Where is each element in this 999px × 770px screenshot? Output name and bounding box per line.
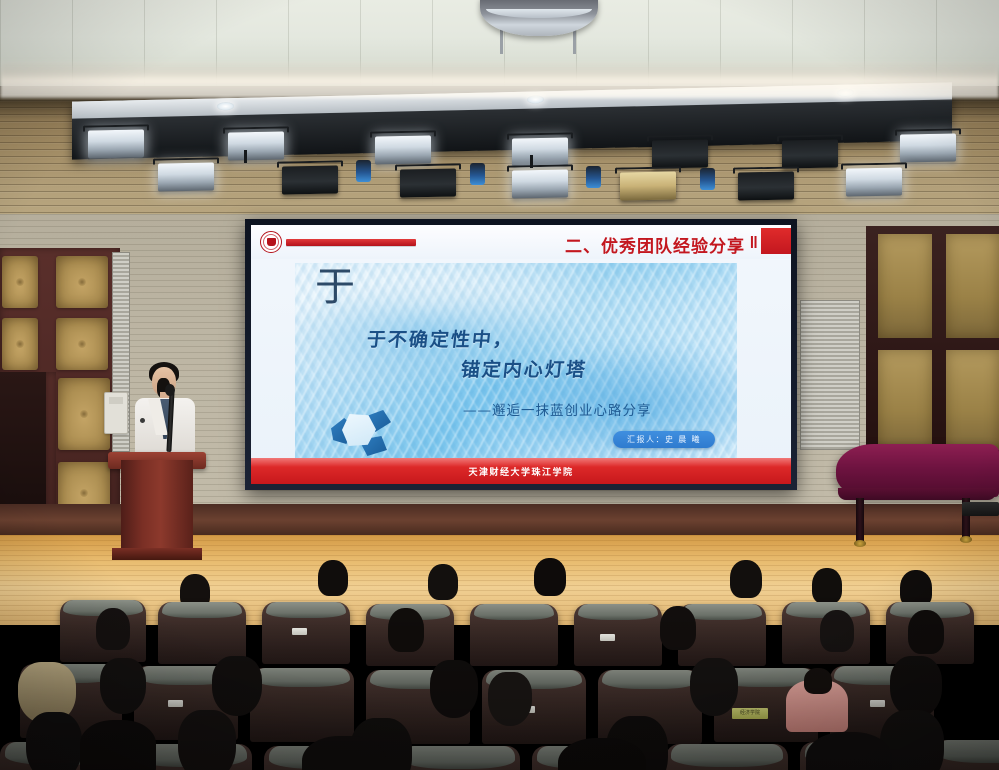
seat-number-tag <box>168 700 183 707</box>
wall-control-box[interactable] <box>104 392 128 434</box>
seat-number-tag <box>870 700 885 707</box>
audience-person <box>660 606 696 650</box>
stage-lamp-b3 <box>400 168 456 197</box>
wall-panel-4 <box>56 318 108 370</box>
lamp-yoke-icon <box>395 163 461 170</box>
seal-ring-icon <box>263 234 279 250</box>
footer-gloss <box>251 458 791 467</box>
wall-panel-3 <box>2 318 38 370</box>
lamp-yoke-icon <box>153 157 219 164</box>
audience-seat <box>262 602 350 664</box>
slide-artwork: 于 于不确定性中， 锚定内心灯塔 ——邂逅一抹蓝创业心路分享 汇报人：史 晨 曦 <box>295 263 737 464</box>
person-head <box>660 606 696 650</box>
audience-person <box>908 610 944 654</box>
speaker-podium <box>121 460 193 555</box>
right-wall-panel-1 <box>878 234 932 338</box>
stage-lamp-a5 <box>652 139 708 168</box>
stage-floor-reflection <box>0 58 999 98</box>
slide-header: 二、优秀团队经验分享 ‖ <box>251 225 791 259</box>
wall-panel-1 <box>2 256 38 308</box>
audience-person <box>890 656 942 718</box>
piano-bench <box>962 502 999 516</box>
podium-base-foot <box>112 548 202 560</box>
audience-person <box>388 608 424 652</box>
header-red-block <box>761 228 791 254</box>
seat-headrest <box>937 740 999 763</box>
seat-number-tag <box>292 628 307 635</box>
person-hair <box>26 712 82 770</box>
person-hair <box>488 672 532 726</box>
seat-headrest <box>162 602 243 618</box>
audience-seat <box>574 604 662 666</box>
lamp-yoke-icon <box>733 166 799 173</box>
audience-person <box>318 560 348 596</box>
person-hair <box>302 736 386 770</box>
lamp-yoke-icon <box>841 162 907 169</box>
audience-person <box>558 738 646 770</box>
person-hair <box>212 656 262 716</box>
person-head <box>96 608 130 650</box>
person-hair <box>80 720 156 770</box>
stage-lamp-blue-1 <box>356 160 371 182</box>
stage-lamp-blue-4 <box>700 168 715 190</box>
projection-screen-frame: 二、优秀团队经验分享 ‖ 于 于不确定性中， 锚定内心灯塔 ——邂逅一抹蓝创业心… <box>245 219 797 490</box>
audience-person <box>302 736 386 770</box>
person-head <box>318 560 348 596</box>
audience-person-pink <box>786 668 848 732</box>
audience-person <box>820 610 854 652</box>
person-head <box>730 560 762 598</box>
audience-person <box>730 560 762 598</box>
audience-person <box>212 656 262 716</box>
lamp-cable-2 <box>530 155 533 168</box>
seat-number-tag <box>600 634 615 641</box>
seat-headrest <box>266 602 347 618</box>
right-wall-vent <box>800 300 860 450</box>
stage-lamp-b5 <box>620 171 676 200</box>
audience-person <box>534 558 566 596</box>
slide-title-line-1: 于不确定性中， <box>366 325 516 352</box>
person-hair <box>690 658 738 716</box>
stage-lamp-b2 <box>282 165 338 194</box>
lamp-yoke-icon <box>223 126 289 133</box>
lamp-yoke-icon <box>370 130 436 137</box>
header-pipes-icon: ‖ <box>750 233 758 253</box>
right-wall-panel-2 <box>946 234 999 338</box>
stage-lamp-b4 <box>512 169 568 198</box>
person-head <box>388 608 424 652</box>
person-head <box>804 668 832 694</box>
person-hair <box>430 660 478 718</box>
stage-lamp-b6 <box>738 171 794 200</box>
seat-headrest <box>474 604 555 620</box>
audience-seat <box>250 668 354 742</box>
slide-footer: 天津财经大学珠江学院 <box>251 458 791 484</box>
audience-seat <box>398 746 520 770</box>
audience-person <box>812 568 842 604</box>
lamp-cable-1 <box>244 150 247 163</box>
stage-lamp-b1 <box>158 162 214 191</box>
piano-leg-left <box>856 498 864 542</box>
projection-screen: 二、优秀团队经验分享 ‖ 于 于不确定性中， 锚定内心灯塔 ——邂逅一抹蓝创业心… <box>251 225 791 484</box>
stage-lamp-a3 <box>375 135 431 164</box>
slide-section-title: 二、优秀团队经验分享 <box>565 232 745 257</box>
slide-subtitle: ——邂逅一抹蓝创业心路分享 <box>463 399 652 419</box>
lamp-yoke-icon <box>83 124 149 131</box>
person-head <box>908 610 944 654</box>
brush-stroke-glyph: 于 <box>315 267 359 307</box>
audience-person <box>178 710 236 770</box>
person-head <box>428 564 458 600</box>
piano-caster-right <box>960 536 972 543</box>
lamp-yoke-icon <box>895 128 961 135</box>
seat-headrest <box>671 744 783 767</box>
audience-person <box>806 732 892 770</box>
wall-panel-5 <box>58 378 110 450</box>
lamp-yoke-icon <box>277 160 343 167</box>
auditorium-scene: 二、优秀团队经验分享 ‖ 于 于不确定性中， 锚定内心灯塔 ——邂逅一抹蓝创业心… <box>0 0 999 770</box>
stage-lamp-a1 <box>88 129 144 158</box>
person-head <box>812 568 842 604</box>
stage-lamp-blue-2 <box>470 163 485 185</box>
university-seal-icon <box>260 231 282 253</box>
broken-ice-hole-graphic <box>325 404 395 456</box>
right-wall-panel-4 <box>946 350 999 450</box>
presenter-badge: 汇报人：史 晨 曦 <box>613 431 715 448</box>
wall-panel-2 <box>56 256 108 308</box>
audience-person <box>488 672 532 726</box>
slide-title-line-2: 锚定内心灯塔 <box>460 355 589 382</box>
audience-person <box>690 658 738 716</box>
stage-lamp-a6 <box>782 139 838 168</box>
audience-seat <box>470 604 558 666</box>
stage-lamp-a4 <box>512 137 568 166</box>
person-hair <box>100 658 146 714</box>
audience-person <box>100 658 146 714</box>
person-head <box>534 558 566 596</box>
lamp-yoke-icon <box>647 134 713 141</box>
seat-headrest <box>254 668 350 687</box>
audience-person <box>428 564 458 600</box>
projector-rod-left <box>500 28 503 54</box>
piano-caster-left <box>854 540 866 547</box>
stage-lamp-a7 <box>900 133 956 162</box>
audience-person <box>430 660 478 718</box>
person-head <box>820 610 854 652</box>
audience-seat <box>158 602 246 664</box>
header-accent-bar <box>286 239 416 246</box>
right-wall-panel-3 <box>878 350 932 450</box>
audience-area: 经济学院 <box>0 560 999 770</box>
audience-person <box>26 712 82 770</box>
microphone-head-icon <box>165 384 175 396</box>
stage-lamp-a2 <box>228 131 284 160</box>
seat-headrest <box>578 604 659 620</box>
seat-headrest <box>403 746 515 769</box>
lamp-yoke-icon <box>507 132 573 139</box>
speaker-lapel-badge <box>140 418 145 423</box>
lamp-yoke-icon <box>777 134 843 141</box>
person-hair <box>890 656 942 718</box>
lamp-yoke-icon <box>615 166 681 173</box>
lamp-yoke-icon <box>507 164 573 171</box>
stage-lamp-blue-3 <box>586 166 601 188</box>
person-hair <box>178 710 236 770</box>
projector-rod-right <box>573 28 576 54</box>
audience-person <box>96 608 130 650</box>
stage-lamp-b7 <box>846 167 902 196</box>
person-hair <box>558 738 646 770</box>
seat-headrest <box>602 670 698 689</box>
audience-person <box>80 720 156 770</box>
audience-seat <box>666 744 788 770</box>
person-hair <box>806 732 892 770</box>
